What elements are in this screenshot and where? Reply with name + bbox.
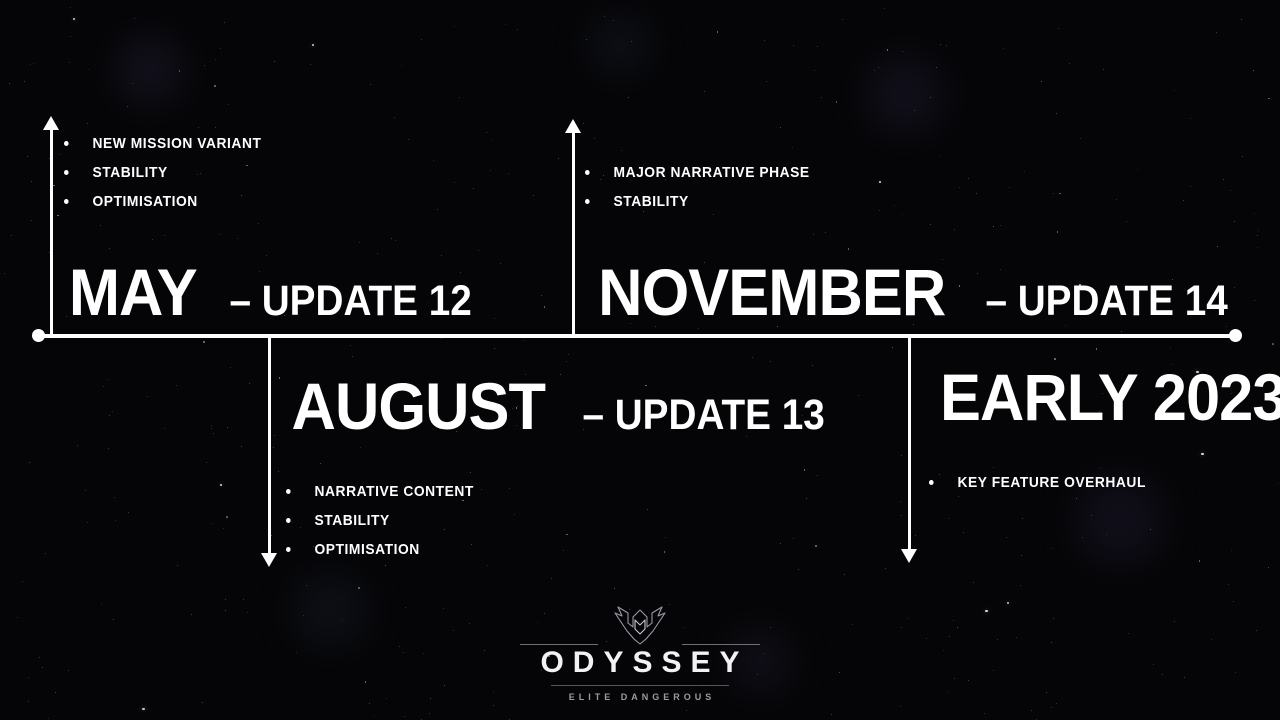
list-item: STABILITY: [585, 194, 1189, 209]
star: [770, 361, 771, 362]
milestone-early-2023-headline: EARLY 2023: [927, 366, 1280, 429]
star: [844, 574, 845, 575]
star: [1058, 28, 1059, 29]
bullet-dot-icon: [286, 489, 291, 494]
star: [984, 713, 985, 714]
star: [814, 70, 815, 71]
bullet-label: STABILITY: [93, 165, 168, 180]
star: [87, 522, 88, 523]
star: [494, 348, 495, 349]
star: [220, 484, 222, 486]
star: [202, 702, 203, 703]
star: [42, 667, 43, 668]
star: [423, 653, 424, 654]
star: [85, 490, 86, 491]
star: [505, 24, 506, 25]
star: [134, 18, 135, 19]
emblem-row: [520, 604, 760, 646]
star: [821, 97, 822, 98]
star: [274, 435, 275, 436]
star: [949, 636, 950, 637]
star: [1242, 156, 1243, 157]
star: [1272, 343, 1274, 345]
star: [915, 535, 916, 536]
list-item: KEY FEATURE OVERHAUL: [929, 475, 1280, 490]
star: [1065, 325, 1066, 326]
star: [70, 36, 71, 37]
star: [586, 39, 587, 40]
star: [164, 428, 165, 429]
roadmap-slide: NEW MISSION VARIANT STABILITY OPTIMISATI…: [0, 0, 1280, 720]
star: [686, 710, 687, 711]
star: [1241, 19, 1242, 20]
bullet-dot-icon: [929, 480, 934, 485]
star: [31, 181, 32, 182]
star: [1231, 550, 1232, 551]
timeline-axis-cap-right: [1229, 329, 1242, 342]
star: [374, 715, 375, 716]
star: [112, 411, 113, 412]
star: [394, 117, 395, 118]
branch-arrow-november: [565, 119, 581, 133]
star: [87, 123, 88, 124]
star: [369, 703, 370, 704]
star: [128, 512, 129, 513]
star: [836, 101, 838, 103]
nebula-patch: [293, 573, 368, 648]
star: [4, 273, 5, 274]
milestone-period: MAY: [69, 261, 197, 324]
milestone-august: AUGUST – UPDATE 13 NARRATIVE CONTENT STA…: [282, 375, 838, 571]
star: [544, 306, 546, 308]
milestone-may-headline: MAY – UPDATE 12: [64, 261, 485, 324]
star: [621, 150, 622, 151]
star: [1006, 537, 1007, 538]
star: [1007, 602, 1009, 604]
star: [444, 685, 445, 686]
branch-line-early-2023: [908, 336, 911, 550]
star: [211, 428, 212, 429]
odyssey-tagline: ELITE DANGEROUS: [520, 692, 760, 702]
star: [1051, 642, 1052, 643]
star: [793, 45, 794, 46]
star: [1226, 326, 1227, 327]
star: [31, 220, 32, 221]
star: [113, 619, 114, 620]
star: [243, 599, 244, 600]
star: [985, 610, 987, 612]
star: [1056, 703, 1057, 704]
star: [902, 51, 903, 52]
star: [49, 252, 50, 253]
star: [24, 81, 25, 82]
star: [370, 84, 371, 85]
star: [198, 127, 199, 128]
milestone-may: NEW MISSION VARIANT STABILITY OPTIMISATI…: [64, 136, 485, 324]
star: [179, 70, 181, 72]
star: [892, 347, 894, 349]
star: [28, 677, 29, 678]
star: [948, 518, 949, 519]
star: [403, 652, 404, 653]
star: [9, 83, 10, 84]
star: [108, 448, 109, 449]
timeline-axis-cap-left: [32, 329, 45, 342]
star: [220, 48, 221, 49]
star: [524, 340, 525, 341]
star: [1031, 710, 1032, 711]
emblem-rule-right: [682, 644, 760, 645]
odyssey-wordmark: ODYSSEY: [520, 646, 760, 681]
star: [274, 61, 275, 62]
milestone-november: MAJOR NARRATIVE PHASE STABILITY NOVEMBER…: [585, 165, 1242, 324]
bullet-dot-icon: [64, 199, 69, 204]
star: [1190, 118, 1191, 119]
star: [500, 263, 501, 264]
star: [1091, 515, 1092, 516]
star: [752, 357, 753, 358]
star: [533, 195, 534, 196]
star: [203, 341, 205, 343]
star: [204, 65, 205, 66]
star: [1268, 567, 1269, 568]
star: [1020, 585, 1021, 586]
milestone-update: – UPDATE 14: [986, 281, 1228, 322]
bullet-dot-icon: [64, 170, 69, 175]
star: [764, 40, 765, 41]
star: [1184, 677, 1185, 678]
star: [568, 354, 569, 355]
star: [780, 127, 781, 128]
star: [350, 345, 351, 346]
star: [885, 568, 886, 569]
star: [278, 471, 279, 472]
star: [27, 156, 28, 157]
star: [1069, 63, 1070, 64]
star: [213, 433, 214, 434]
star: [852, 624, 853, 625]
bullet-label: OPTIMISATION: [315, 542, 420, 557]
star: [858, 395, 859, 396]
star: [997, 639, 998, 640]
star: [228, 104, 229, 105]
star: [147, 396, 148, 397]
star: [1268, 98, 1270, 100]
star: [28, 701, 29, 702]
star: [558, 158, 559, 159]
star: [817, 46, 818, 47]
star: [230, 367, 231, 368]
bullet-dot-icon: [585, 170, 590, 175]
nebula-patch: [590, 15, 650, 75]
star: [900, 501, 901, 502]
star: [227, 427, 228, 428]
star: [930, 97, 931, 98]
branch-arrow-may: [43, 116, 59, 130]
star: [441, 338, 442, 339]
star: [908, 618, 909, 619]
star: [1003, 48, 1004, 49]
milestone-august-bullets: NARRATIVE CONTENT STABILITY OPTIMISATION: [286, 484, 838, 557]
star: [127, 106, 128, 107]
star: [226, 516, 228, 518]
star: [508, 173, 509, 174]
star: [517, 29, 518, 30]
star: [421, 39, 422, 40]
star: [310, 64, 311, 65]
star: [1053, 618, 1054, 619]
star: [494, 318, 495, 319]
star: [1170, 348, 1171, 349]
star: [1211, 639, 1212, 640]
star: [839, 672, 840, 673]
milestone-period: AUGUST: [292, 375, 546, 438]
star: [108, 379, 109, 380]
star: [963, 532, 964, 533]
odyssey-logo: ODYSSEY ELITE DANGEROUS: [520, 604, 760, 703]
star: [493, 705, 494, 706]
star: [909, 546, 910, 547]
star: [206, 462, 207, 463]
branch-arrow-early-2023: [901, 549, 917, 563]
milestone-period: EARLY 2023: [940, 366, 1280, 429]
star: [541, 295, 542, 296]
star: [405, 607, 406, 608]
star: [303, 615, 304, 616]
star: [1041, 81, 1043, 83]
star: [215, 127, 216, 128]
list-item: STABILITY: [286, 513, 794, 528]
star: [114, 497, 115, 498]
star: [1103, 69, 1104, 70]
branch-line-may: [50, 128, 53, 336]
star: [604, 16, 605, 17]
star: [614, 588, 616, 590]
star: [103, 386, 104, 387]
star: [443, 608, 444, 609]
star: [386, 698, 387, 699]
bullet-label: KEY FEATURE OVERHAUL: [958, 475, 1146, 490]
star: [212, 523, 213, 524]
star: [490, 170, 491, 171]
milestone-august-headline: AUGUST – UPDATE 13: [282, 375, 838, 438]
star: [1016, 637, 1017, 638]
star: [70, 7, 71, 8]
star: [1096, 348, 1098, 350]
branch-arrow-august: [261, 553, 277, 567]
list-item: OPTIMISATION: [64, 194, 451, 209]
star: [404, 716, 405, 717]
star: [401, 65, 402, 66]
star: [953, 620, 954, 621]
star: [469, 623, 470, 624]
star: [247, 612, 248, 613]
star: [77, 445, 78, 446]
star: [1021, 555, 1022, 556]
star: [191, 614, 192, 615]
star: [365, 681, 367, 683]
star: [901, 515, 902, 516]
star: [88, 69, 89, 70]
bullet-dot-icon: [585, 199, 590, 204]
star: [115, 520, 116, 521]
list-item: MAJOR NARRATIVE PHASE: [585, 165, 1189, 180]
star: [926, 638, 927, 639]
star: [1080, 138, 1081, 139]
star: [224, 22, 225, 23]
star: [1056, 113, 1057, 114]
star: [842, 19, 843, 20]
bullet-label: STABILITY: [315, 513, 390, 528]
star: [142, 708, 144, 710]
elite-dangerous-wing-emblem-icon: [597, 604, 683, 646]
star: [1174, 621, 1175, 622]
star: [1235, 672, 1236, 673]
star: [939, 155, 940, 156]
star: [1051, 707, 1052, 708]
star: [717, 31, 719, 33]
star: [39, 657, 40, 658]
star: [55, 692, 56, 693]
star: [704, 91, 705, 92]
star: [312, 44, 314, 46]
star: [22, 581, 23, 582]
star: [770, 627, 771, 628]
star: [29, 462, 30, 463]
star: [279, 377, 281, 379]
star: [594, 138, 595, 139]
star: [766, 81, 767, 82]
star: [1121, 331, 1122, 332]
star: [215, 59, 216, 60]
star: [1022, 518, 1023, 519]
timeline-axis: [38, 334, 1236, 338]
star: [48, 718, 49, 719]
star: [551, 578, 552, 579]
star: [940, 44, 941, 45]
star: [176, 385, 177, 386]
star: [1254, 300, 1255, 301]
star: [1233, 601, 1234, 602]
star: [792, 147, 793, 148]
star: [273, 447, 274, 448]
star: [73, 18, 75, 20]
bullet-label: MAJOR NARRATIVE PHASE: [614, 165, 810, 180]
star: [968, 680, 969, 681]
list-item: NARRATIVE CONTENT: [286, 484, 794, 499]
star: [454, 26, 455, 27]
bullet-dot-icon: [286, 518, 291, 523]
star: [763, 653, 764, 654]
list-item: OPTIMISATION: [286, 542, 794, 557]
star: [1150, 529, 1151, 530]
star: [225, 599, 226, 600]
branch-line-november: [572, 131, 575, 336]
star: [936, 67, 937, 68]
star: [49, 158, 50, 159]
star: [874, 70, 875, 71]
emblem-rule-left: [520, 644, 598, 645]
star: [453, 630, 454, 631]
star: [954, 678, 955, 679]
star: [1256, 630, 1257, 631]
star: [566, 361, 567, 362]
star: [900, 706, 901, 707]
star: [491, 140, 492, 141]
star: [831, 714, 832, 715]
star: [957, 627, 959, 629]
star: [1199, 560, 1201, 562]
star: [1051, 548, 1052, 549]
milestone-november-bullets: MAJOR NARRATIVE PHASE STABILITY: [585, 165, 1242, 209]
star: [11, 235, 12, 236]
list-item: NEW MISSION VARIANT: [64, 136, 451, 151]
bullet-dot-icon: [64, 141, 69, 146]
star: [306, 585, 307, 586]
star: [101, 603, 102, 604]
milestone-period: NOVEMBER: [598, 261, 945, 324]
star: [59, 154, 60, 155]
star: [887, 49, 889, 51]
star: [812, 365, 813, 366]
star: [1153, 664, 1154, 665]
star: [1254, 213, 1255, 214]
star: [57, 215, 59, 217]
logo-sub-rule: [551, 685, 729, 686]
star: [993, 670, 994, 671]
star: [1128, 633, 1129, 634]
star: [943, 650, 944, 651]
star: [493, 691, 494, 692]
star: [878, 67, 879, 68]
star: [296, 652, 297, 653]
bullet-label: STABILITY: [614, 194, 689, 209]
star: [223, 528, 224, 529]
star: [486, 132, 487, 133]
nebula-patch: [115, 35, 185, 105]
star: [459, 97, 460, 98]
star: [132, 83, 133, 84]
star: [30, 64, 31, 65]
star: [17, 617, 18, 618]
bullet-label: NEW MISSION VARIANT: [93, 136, 262, 151]
star: [271, 535, 272, 536]
star: [1162, 674, 1163, 675]
branch-line-august: [268, 336, 271, 554]
star: [901, 627, 902, 628]
star: [631, 41, 632, 42]
milestone-early-2023: EARLY 2023 KEY FEATURE OVERHAUL: [927, 366, 1280, 504]
star: [45, 553, 46, 554]
bullet-label: NARRATIVE CONTENT: [315, 484, 474, 499]
star: [946, 45, 947, 46]
star: [211, 425, 212, 426]
star: [53, 185, 55, 187]
star: [1228, 584, 1229, 585]
milestone-update: – UPDATE 12: [229, 281, 471, 322]
star: [68, 670, 69, 671]
star: [287, 334, 288, 335]
star: [249, 383, 250, 384]
star: [1082, 537, 1083, 538]
star: [484, 650, 485, 651]
star: [33, 63, 34, 64]
star: [225, 610, 226, 611]
star: [69, 62, 70, 63]
bullet-dot-icon: [286, 547, 291, 552]
star: [1216, 32, 1217, 33]
milestone-update: – UPDATE 13: [582, 395, 824, 436]
